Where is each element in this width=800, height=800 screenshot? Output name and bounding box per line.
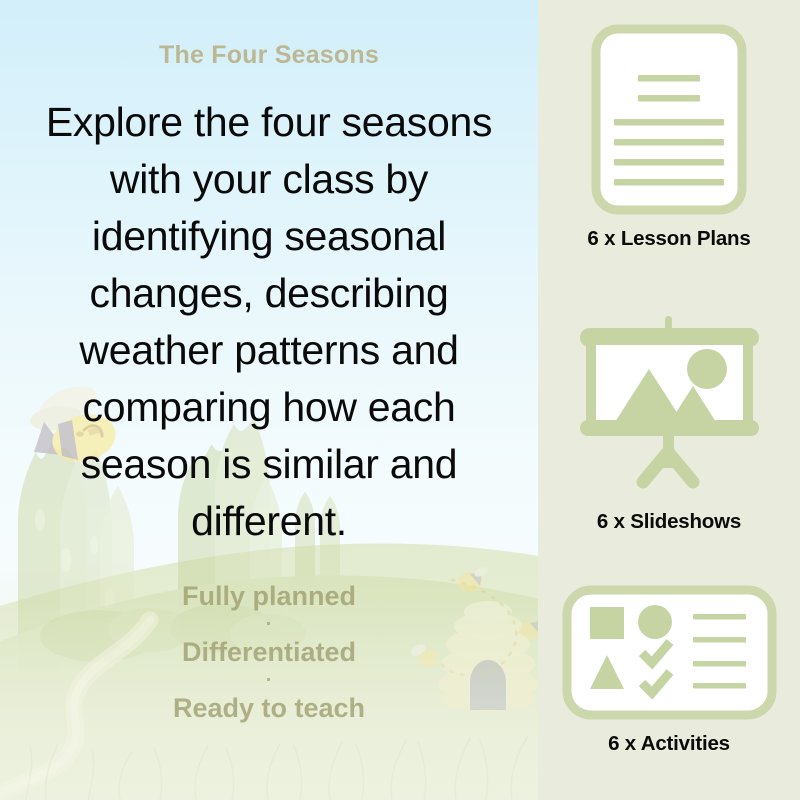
item-lesson-plans: 6 x Lesson Plans [538,22,800,251]
tagline-bullet-2: · [0,671,538,690]
promo-graphic: The Four Seasons Explore the four season… [0,0,800,800]
left-text-block: The Four Seasons Explore the four season… [0,0,538,800]
tagline-block: Fully planned · Differentiated · Ready t… [0,580,538,725]
tagline-bullet-1: · [0,615,538,634]
item-label-slideshows: 6 x Slideshows [538,510,800,534]
item-label-activities: 6 x Activities [538,732,800,756]
item-slideshows: 6 x Slideshows [538,312,800,534]
tagline-line-1: Fully planned [0,580,538,613]
right-panel: 6 x Lesson Plans [538,0,800,800]
tagline-line-3: Ready to teach [0,692,538,725]
headline-paragraph: Explore the four seasons with your class… [18,94,520,550]
slideshow-projector-screen-icon [562,312,777,502]
item-activities: 6 x Activities [538,585,800,756]
activities-shapes-checklist-icon [562,585,777,720]
tagline-line-2: Differentiated [0,636,538,669]
eyebrow-title: The Four Seasons [0,41,538,70]
item-label-lesson-plans: 6 x Lesson Plans [538,227,800,251]
left-panel: The Four Seasons Explore the four season… [0,0,538,800]
lesson-plan-document-icon [589,22,749,217]
